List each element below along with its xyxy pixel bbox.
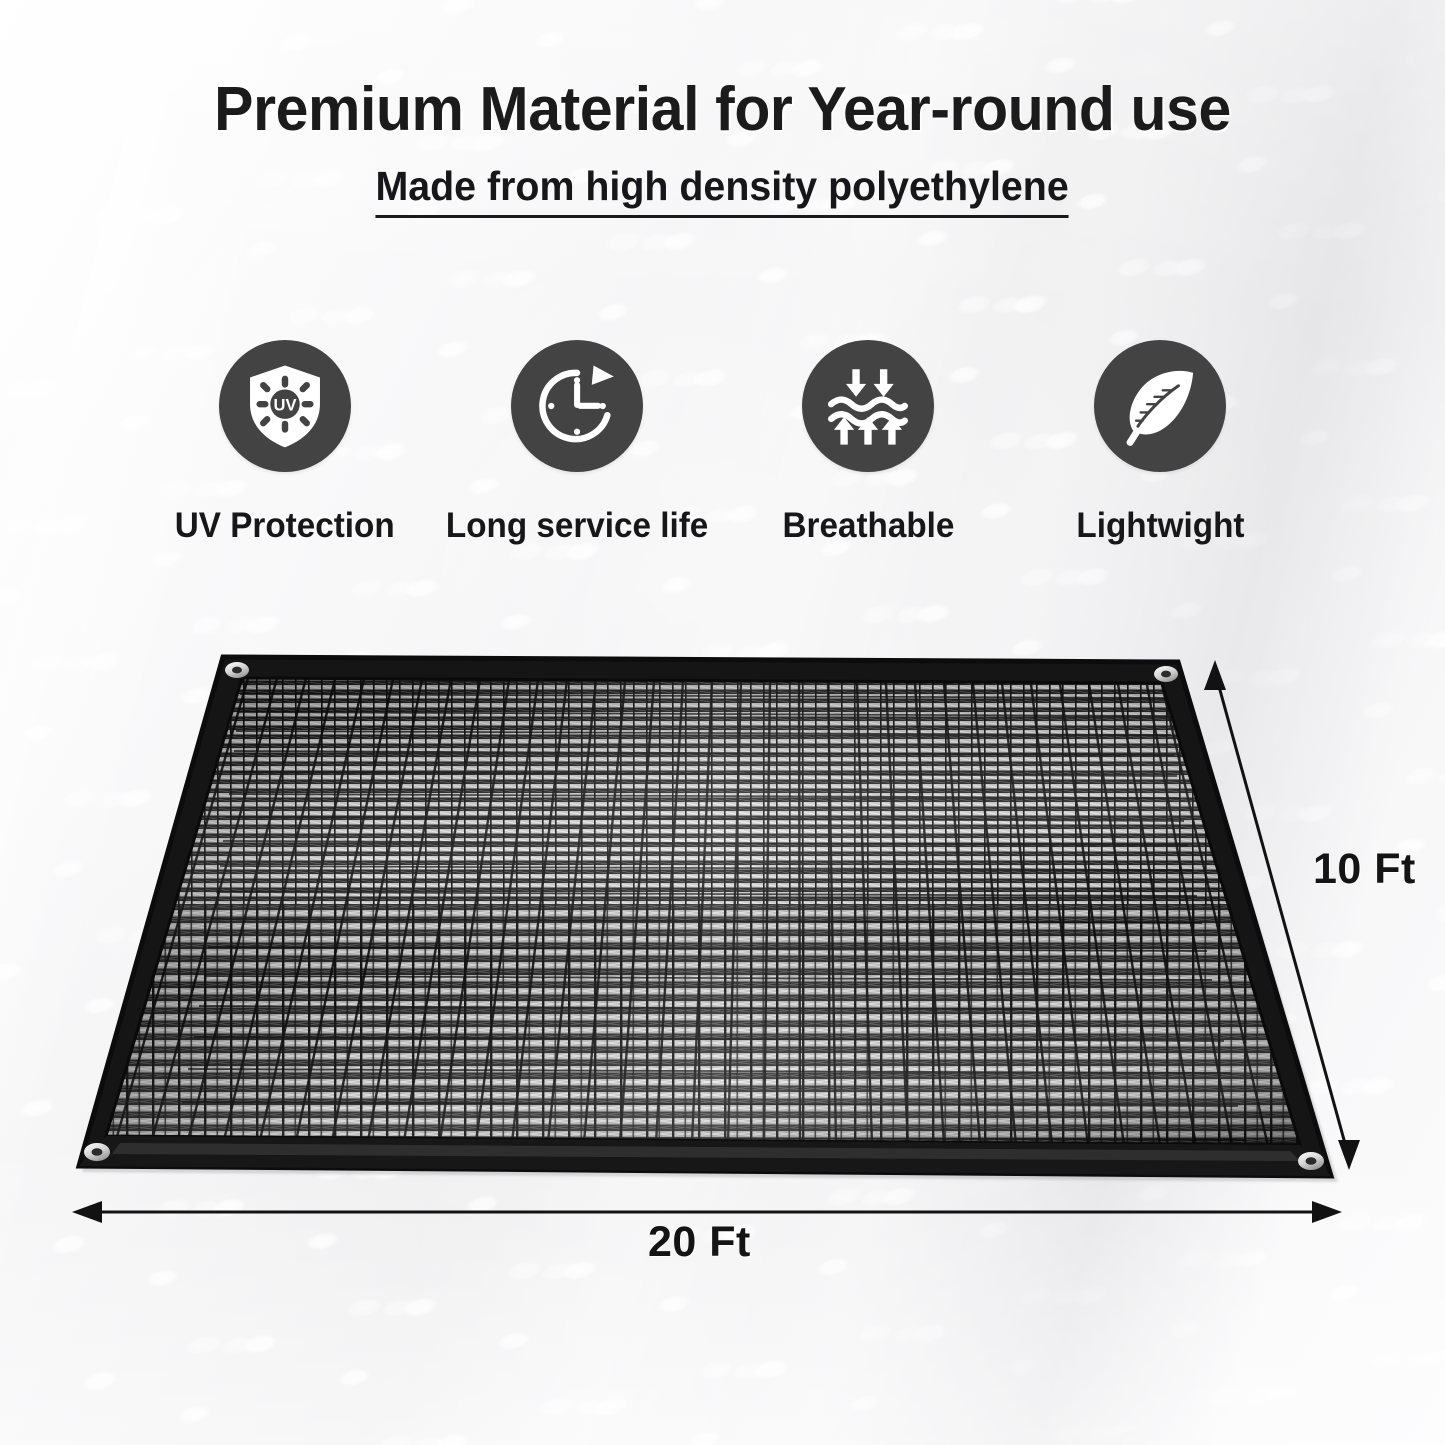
grommet-top-left bbox=[225, 662, 249, 678]
feature-breathable: Breathable bbox=[723, 340, 1013, 546]
dimension-label-width: 20 Ft bbox=[648, 1218, 751, 1267]
feature-label-lightweight: Lightwight bbox=[1076, 506, 1244, 546]
feature-label-breathable: Breathable bbox=[782, 506, 954, 546]
feature-row: UV UV Protection bbox=[140, 340, 1305, 546]
feather-icon bbox=[1094, 340, 1226, 472]
uv-shield-icon: UV bbox=[219, 340, 351, 472]
dimension-label-height: 10 Ft bbox=[1313, 845, 1416, 894]
page-title: Premium Material for Year-round use bbox=[36, 78, 1409, 141]
feature-lightweight: Lightwight bbox=[1015, 340, 1305, 546]
feature-long-service-life: Long service life bbox=[432, 340, 722, 546]
product-infographic: Premium Material for Year-round use Made… bbox=[0, 0, 1445, 1445]
feature-label-uv-protection: UV Protection bbox=[175, 506, 395, 546]
grommet-bottom-right bbox=[1298, 1152, 1324, 1170]
page-subtitle: Made from high density polyethylene bbox=[376, 163, 1069, 218]
grommet-bottom-left bbox=[84, 1143, 110, 1161]
feature-label-long-service-life: Long service life bbox=[445, 506, 707, 546]
clock-rotate-icon bbox=[511, 340, 643, 472]
grommet-top-right bbox=[1154, 666, 1178, 682]
feature-uv-protection: UV UV Protection bbox=[140, 340, 430, 546]
header-block: Premium Material for Year-round use Made… bbox=[0, 78, 1445, 218]
uv-icon-text: UV bbox=[274, 396, 297, 415]
airflow-waves-icon bbox=[802, 340, 934, 472]
